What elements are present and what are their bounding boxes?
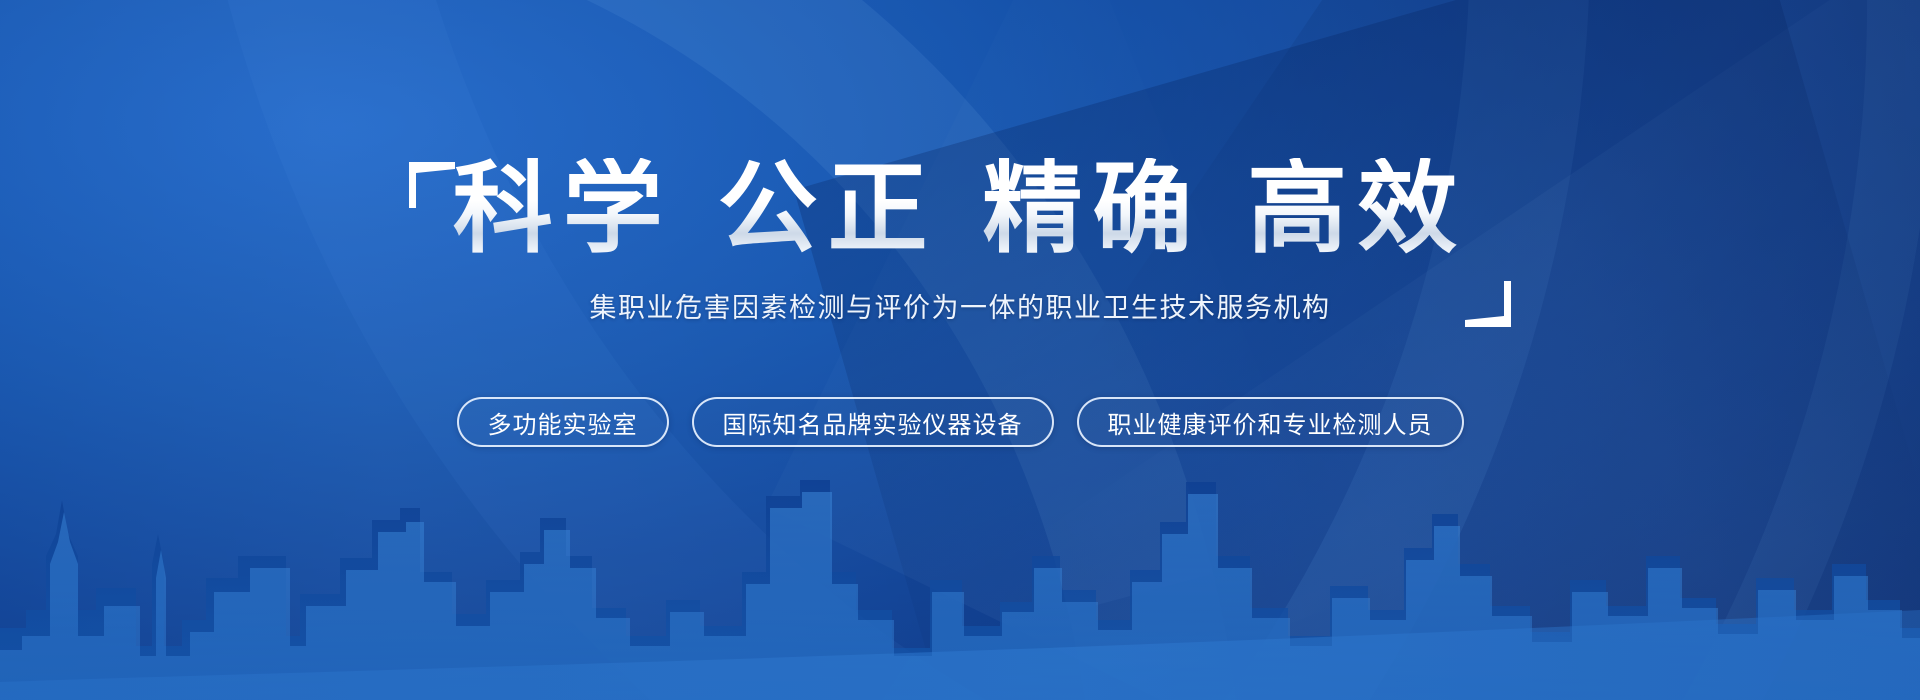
feature-pill-equipment[interactable]: 国际知名品牌实验仪器设备 (692, 397, 1054, 447)
feature-pill-list: 多功能实验室 国际知名品牌实验仪器设备 职业健康评价和专业检测人员 (0, 397, 1920, 447)
banner-content: 科学 公正 精确 高效 集职业危害因素检测与评价为一体的职业卫生技术服务机构 多… (0, 0, 1920, 447)
city-skyline-icon (0, 460, 1920, 700)
corner-bracket-close-icon (1465, 281, 1511, 327)
headline-text: 科学 公正 精确 高效 (453, 158, 1467, 260)
headline-block: 科学 公正 精确 高效 集职业危害因素检测与评价为一体的职业卫生技术服务机构 (407, 158, 1513, 325)
banner-subtitle: 集职业危害因素检测与评价为一体的职业卫生技术服务机构 (453, 286, 1467, 325)
hero-banner: 科学 公正 精确 高效 集职业危害因素检测与评价为一体的职业卫生技术服务机构 多… (0, 0, 1920, 700)
feature-pill-personnel[interactable]: 职业健康评价和专业检测人员 (1077, 397, 1464, 447)
feature-pill-lab[interactable]: 多功能实验室 (457, 397, 669, 447)
corner-bracket-open-icon (409, 162, 455, 208)
